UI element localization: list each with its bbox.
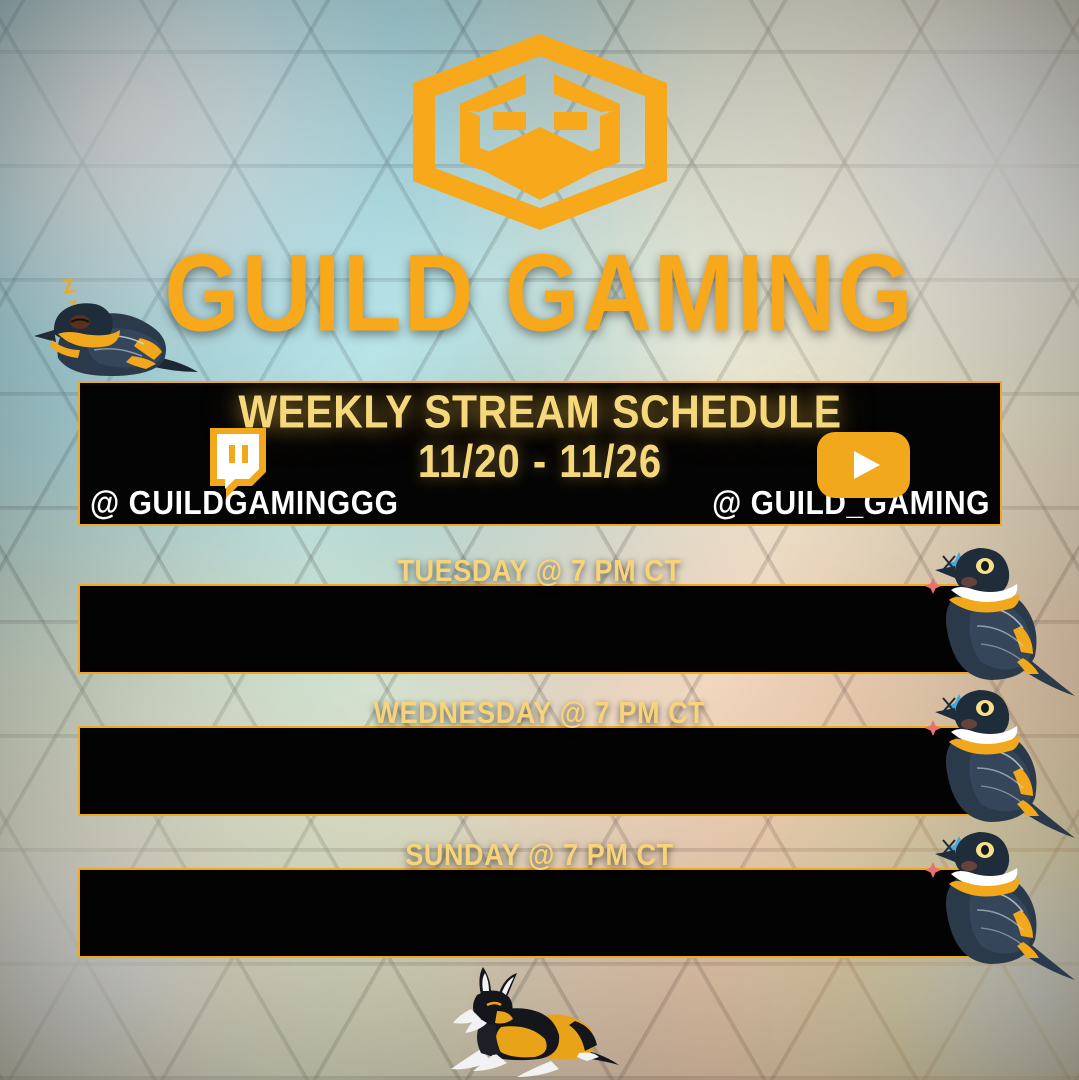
twitch-icon[interactable] [204, 428, 266, 500]
dog-mascot [447, 965, 637, 1080]
day-label-tuesday: TUESDAY @ 7 PM CT [0, 554, 1079, 589]
svg-text:Z: Z [60, 275, 77, 299]
day-content-wednesday [80, 728, 1000, 814]
day-label-wednesday: WEDNESDAY @ 7 PM CT [0, 696, 1079, 731]
sleeping-bird-mascot: Z Z [28, 272, 200, 390]
brand-logo [0, 34, 1079, 230]
stream-schedule-poster: GUILD GAMING Z Z [0, 0, 1079, 1080]
youtube-icon[interactable] [817, 432, 910, 498]
day-content-sunday [80, 870, 1000, 956]
bird-mascot-3 [925, 818, 1077, 990]
guild-gaming-hexagon-logo-icon [413, 34, 667, 230]
day-box-sunday[interactable] [78, 868, 1002, 958]
day-label-sunday: SUNDAY @ 7 PM CT [0, 838, 1079, 873]
day-box-tuesday[interactable] [78, 584, 1002, 674]
day-content-tuesday [80, 586, 1000, 672]
day-box-wednesday[interactable] [78, 726, 1002, 816]
